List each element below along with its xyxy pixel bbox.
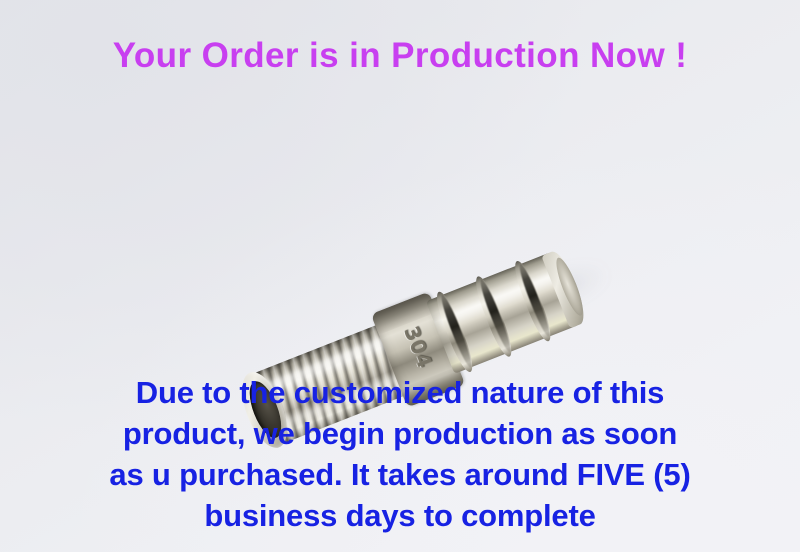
notice-line-3: as u purchased. It takes around FIVE (5) [0,454,800,495]
product-photo: 304 [0,120,800,390]
notice-line-2: product, we begin production as soon [0,413,800,454]
production-notice-poster: Your Order is in Production Now ! 304 [0,0,800,552]
page-title: Your Order is in Production Now ! [0,36,800,76]
production-notice-text: Due to the customized nature of this pro… [0,372,800,536]
notice-line-4: business days to complete [0,495,800,536]
notice-line-1: Due to the customized nature of this [0,372,800,413]
